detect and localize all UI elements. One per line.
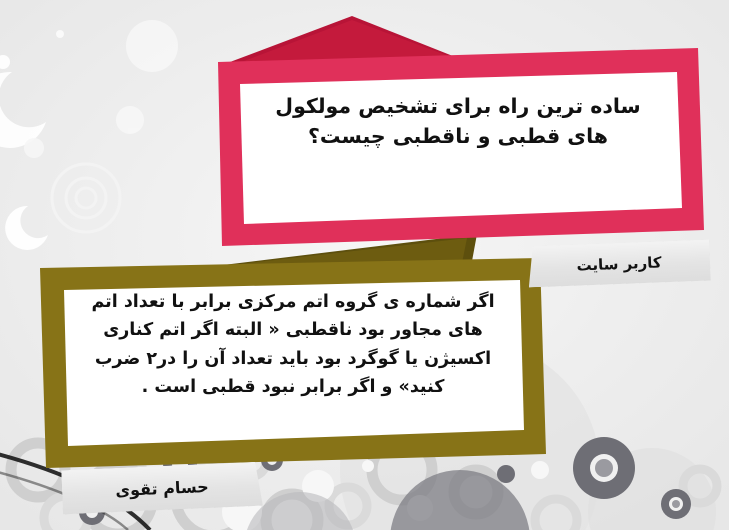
answer-author-label: حسام تقوی [115, 476, 209, 499]
slide-canvas: ساده ترین راه برای تشخیص مولکول های قطبی… [0, 0, 729, 530]
question-text: ساده ترین راه برای تشخیص مولکول های قطبی… [212, 92, 704, 151]
question-author-label: کاربر سایت [576, 253, 662, 274]
question-author-tag[interactable]: کاربر سایت [527, 240, 710, 288]
answer-author-tag[interactable]: حسام تقوی [61, 462, 263, 515]
answer-bubble: اگر شماره ی گروه اتم مرکزی برابر با تعدا… [40, 258, 546, 468]
question-bubble: ساده ترین راه برای تشخیص مولکول های قطبی… [212, 48, 704, 246]
answer-text: اگر شماره ی گروه اتم مرکزی برابر با تعدا… [40, 288, 546, 401]
